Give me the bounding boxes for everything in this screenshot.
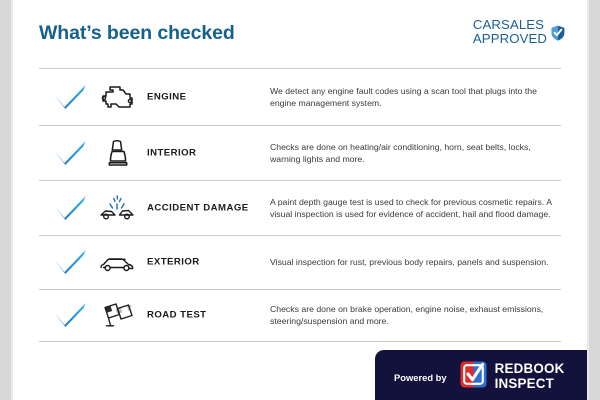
page-right-seam <box>587 0 589 400</box>
checkered-flag-icon <box>99 300 135 330</box>
page-root: What’s been checked CARSALES APPROVED <box>0 0 600 400</box>
blue-checkmark-icon <box>53 194 87 221</box>
powered-by-label: Powered by <box>394 372 447 383</box>
car-seat-icon <box>99 138 135 168</box>
check-description-accident-damage: A paint depth gauge test is used to chec… <box>270 195 560 219</box>
check-row-exterior: EXTERIOR Visual inspection for rust, pre… <box>39 235 561 289</box>
check-label-engine: ENGINE <box>147 91 186 102</box>
shield-check-icon <box>551 25 565 46</box>
check-row-accident-damage: ACCIDENT DAMAGE A paint depth gauge test… <box>39 180 561 235</box>
engine-icon <box>99 82 135 112</box>
check-row-engine: ENGINE We detect any engine fault codes … <box>39 68 561 125</box>
checked-card: What’s been checked CARSALES APPROVED <box>13 0 587 400</box>
page-title: What’s been checked <box>39 22 235 45</box>
car-side-icon <box>99 247 135 277</box>
redbook-check-logo-icon <box>460 361 487 393</box>
check-row-interior: INTERIOR Checks are done on heating/air … <box>39 125 561 180</box>
check-label-exterior: EXTERIOR <box>147 257 200 268</box>
blue-checkmark-icon <box>53 249 87 276</box>
check-label-road-test: ROAD TEST <box>147 310 206 321</box>
blue-checkmark-icon <box>53 83 87 110</box>
check-description-engine: We detect any engine fault codes using a… <box>270 84 560 108</box>
card-header: What’s been checked CARSALES APPROVED <box>13 0 587 68</box>
check-row-road-test: ROAD TEST Checks are done on brake opera… <box>39 289 561 341</box>
check-label-accident-damage: ACCIDENT DAMAGE <box>147 202 249 213</box>
row-divider <box>39 341 561 342</box>
carsales-approved-badge: CARSALES APPROVED <box>473 18 565 47</box>
carsales-approved-label: CARSALES APPROVED <box>473 18 547 47</box>
car-crash-icon <box>99 193 135 223</box>
blue-checkmark-icon <box>53 302 87 329</box>
check-label-interior: INTERIOR <box>147 147 196 158</box>
powered-by-redbook-banner[interactable]: Powered by REDBOOK INSPECT <box>375 350 587 400</box>
redbook-inspect-wordmark: REDBOOK INSPECT <box>495 362 565 391</box>
blue-checkmark-icon <box>53 139 87 166</box>
check-description-exterior: Visual inspection for rust, previous bod… <box>270 256 560 268</box>
check-description-road-test: Checks are done on brake operation, engi… <box>270 303 560 327</box>
check-description-interior: Checks are done on heating/air condition… <box>270 140 560 164</box>
